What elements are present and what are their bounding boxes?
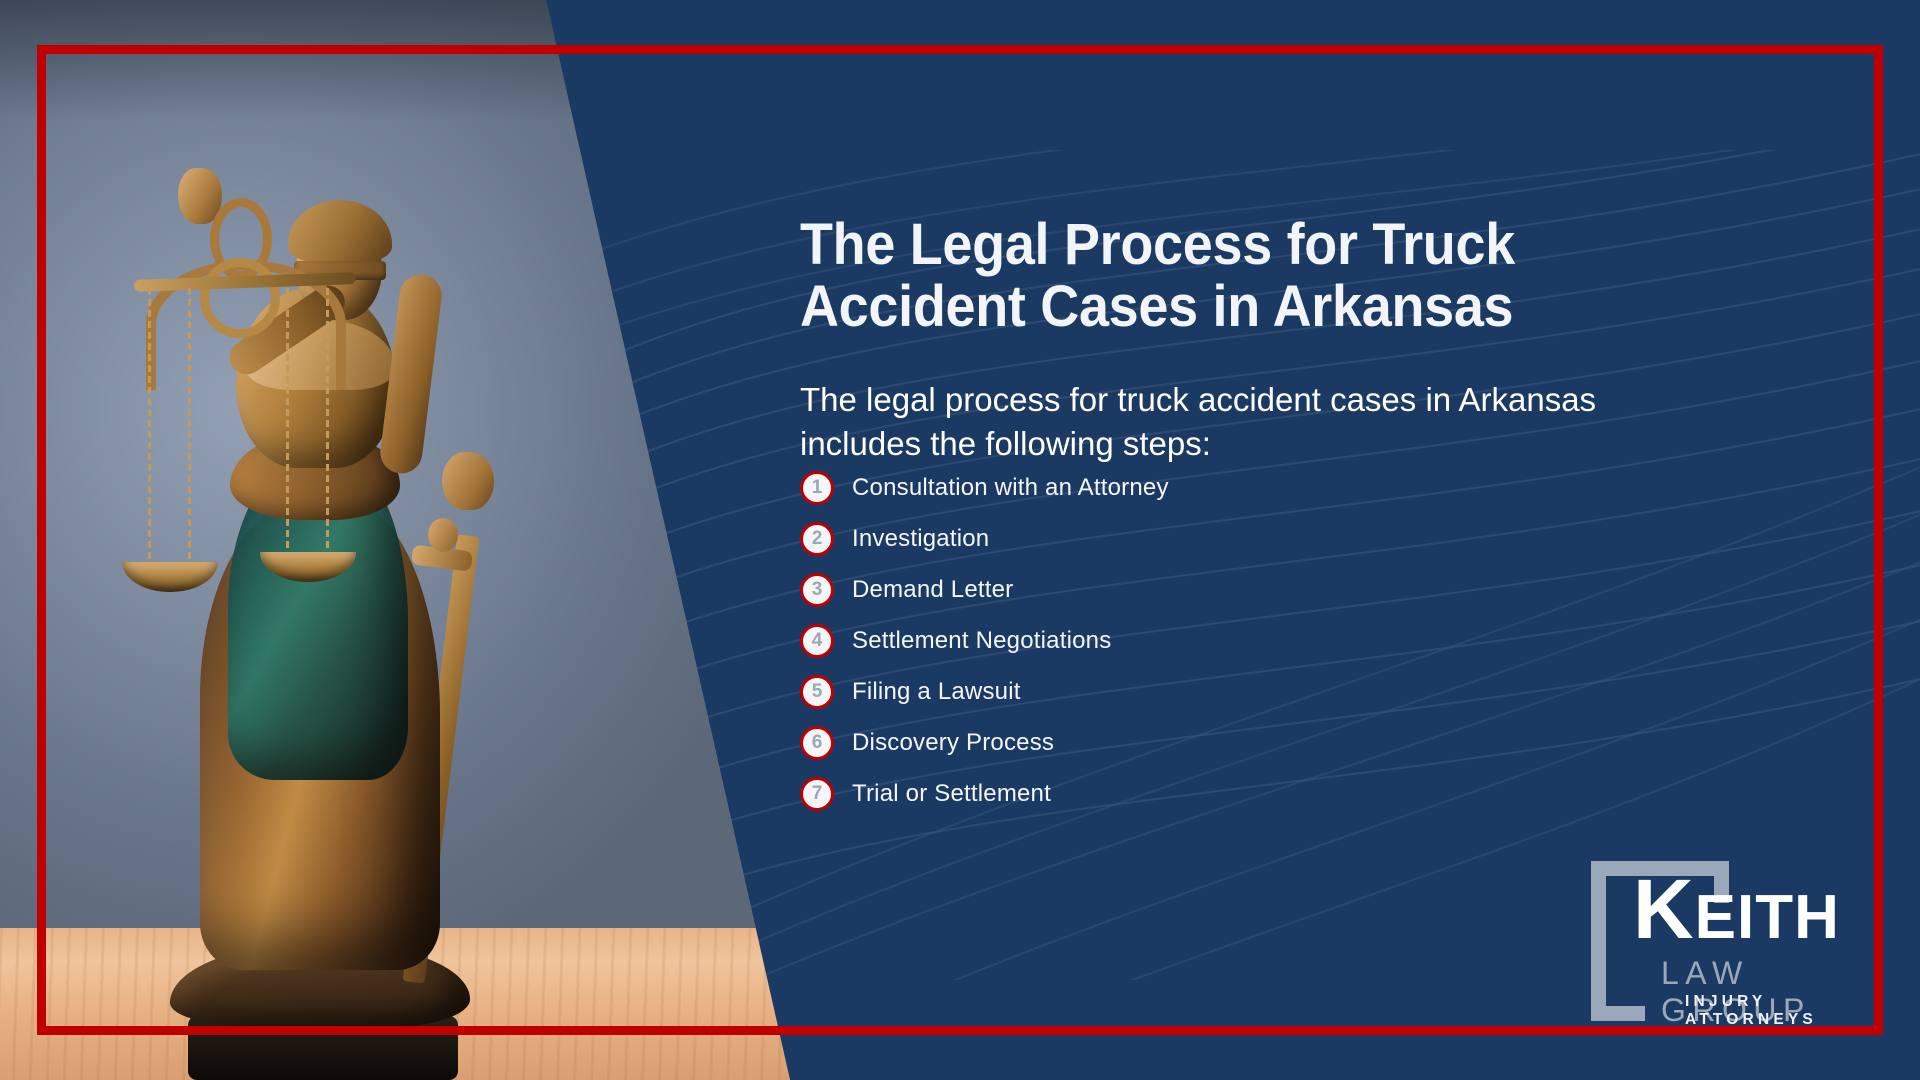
list-item: 5 Filing a Lawsuit — [800, 666, 1700, 717]
step-label: Discovery Process — [852, 729, 1054, 757]
steps-list: 1 Consultation with an Attorney 2 Invest… — [800, 462, 1700, 819]
scales-pan-left — [122, 562, 218, 592]
page-title: The Legal Process for Truck Accident Cas… — [800, 214, 1688, 338]
step-label: Trial or Settlement — [852, 780, 1051, 808]
scales-chain-left-a — [148, 288, 151, 560]
scales-chain-right-b — [326, 288, 329, 550]
list-item: 2 Investigation — [800, 513, 1700, 564]
list-item: 4 Settlement Negotiations — [800, 615, 1700, 666]
logo-k-letter: K — [1633, 862, 1695, 956]
step-number-badge: 7 — [800, 777, 834, 811]
statue-figure — [60, 70, 580, 1080]
statue-hair — [288, 200, 392, 262]
list-item: 6 Discovery Process — [800, 717, 1700, 768]
step-number-badge: 6 — [800, 726, 834, 760]
scales-lower-ring — [200, 258, 280, 338]
step-label: Investigation — [852, 525, 989, 553]
list-item: 3 Demand Letter — [800, 564, 1700, 615]
logo-eith-letters: EITH — [1695, 883, 1840, 952]
list-item: 7 Trial or Settlement — [800, 768, 1700, 819]
logo-injury-attorneys-text: INJURY ATTORNEYS — [1685, 993, 1873, 1029]
infographic-canvas: The Legal Process for Truck Accident Cas… — [0, 0, 1920, 1080]
step-number-badge: 1 — [800, 471, 834, 505]
step-number-badge: 2 — [800, 522, 834, 556]
statue-sword-pommel — [428, 518, 458, 552]
step-label: Filing a Lawsuit — [852, 678, 1021, 706]
step-number-badge: 4 — [800, 624, 834, 658]
step-label: Settlement Negotiations — [852, 627, 1111, 655]
step-label: Demand Letter — [852, 576, 1013, 604]
logo-wordmark: KEITH — [1633, 867, 1840, 951]
scales-chain-right-a — [286, 288, 289, 550]
step-label: Consultation with an Attorney — [852, 474, 1169, 502]
keith-law-group-logo: KEITH LAW GROUP INJURY ATTORNEYS — [1573, 843, 1873, 1018]
step-number-badge: 3 — [800, 573, 834, 607]
page-subtitle: The legal process for truck accident cas… — [800, 378, 1640, 466]
list-item: 1 Consultation with an Attorney — [800, 462, 1700, 513]
statue-right-hand — [442, 452, 494, 510]
scales-chain-left-b — [188, 288, 191, 560]
step-number-badge: 5 — [800, 675, 834, 709]
